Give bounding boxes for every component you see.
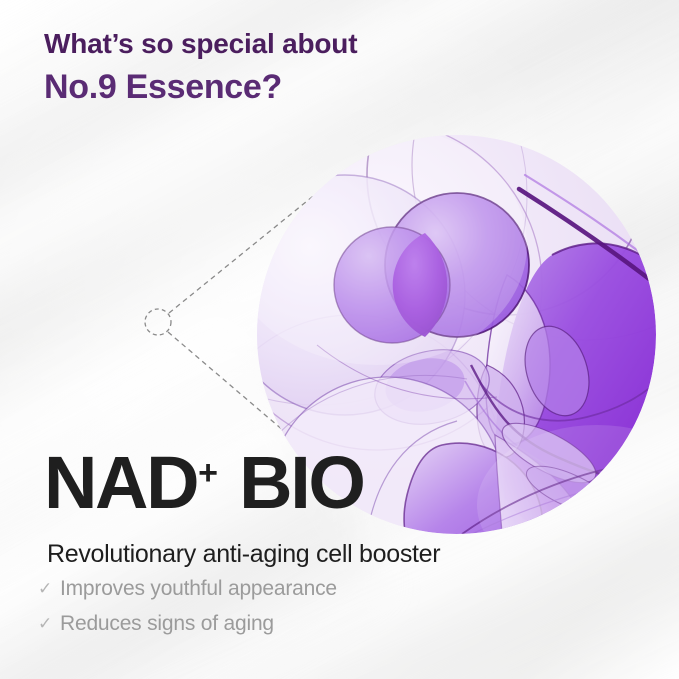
check-icon: ✓ [38, 580, 52, 597]
benefits-list: ✓ Improves youthful appearance ✓ Reduces… [38, 578, 337, 648]
product-infographic-canvas: What’s so special about No.9 Essence? [0, 0, 679, 679]
list-item: ✓ Reduces signs of aging [38, 613, 337, 634]
headline-line-1: What’s so special about [44, 30, 357, 58]
product-subtitle: Revolutionary anti-aging cell booster [47, 540, 440, 569]
list-item: ✓ Improves youthful appearance [38, 578, 337, 599]
title-bio: BIO [221, 441, 364, 524]
check-icon: ✓ [38, 615, 52, 632]
benefit-label: Reduces signs of aging [60, 613, 274, 634]
title-superscript-plus: + [198, 454, 217, 492]
title-nad: NAD [44, 441, 197, 524]
benefit-label: Improves youthful appearance [60, 578, 337, 599]
page-title: NAD+ BIO [44, 446, 364, 520]
headline-line-2: No.9 Essence? [44, 70, 357, 104]
headline-block: What’s so special about No.9 Essence? [44, 30, 357, 104]
